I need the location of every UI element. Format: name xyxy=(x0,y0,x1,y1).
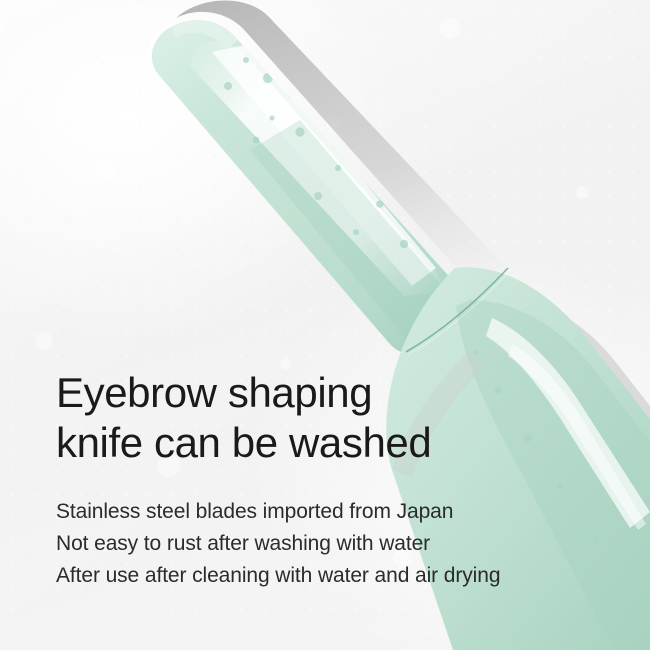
feature-line-2: Not easy to rust after washing with wate… xyxy=(56,528,616,560)
headline-line-1: Eyebrow shaping xyxy=(56,368,616,418)
product-banner: Eyebrow shaping knife can be washed Stai… xyxy=(0,0,650,650)
feature-line-1: Stainless steel blades imported from Jap… xyxy=(56,496,616,528)
feature-line-3: After use after cleaning with water and … xyxy=(56,560,616,592)
headline-line-2: knife can be washed xyxy=(56,418,616,468)
marketing-copy: Eyebrow shaping knife can be washed Stai… xyxy=(56,368,616,592)
feature-list: Stainless steel blades imported from Jap… xyxy=(56,496,616,592)
